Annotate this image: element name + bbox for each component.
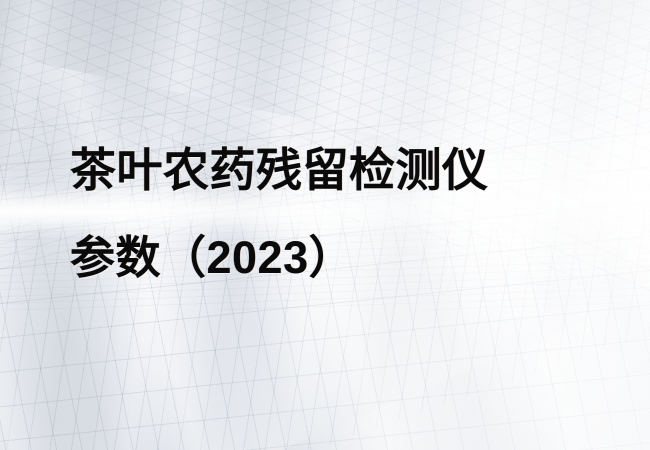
page-title: 茶叶农药残留检测仪 参数（2023） [70,126,630,302]
slide-canvas: 茶叶农药残留检测仪 参数（2023） [0,0,650,450]
title-line-product-name: 茶叶农药残留检测仪 [70,126,630,214]
title-line-subtitle: 参数（2023） [70,214,630,302]
